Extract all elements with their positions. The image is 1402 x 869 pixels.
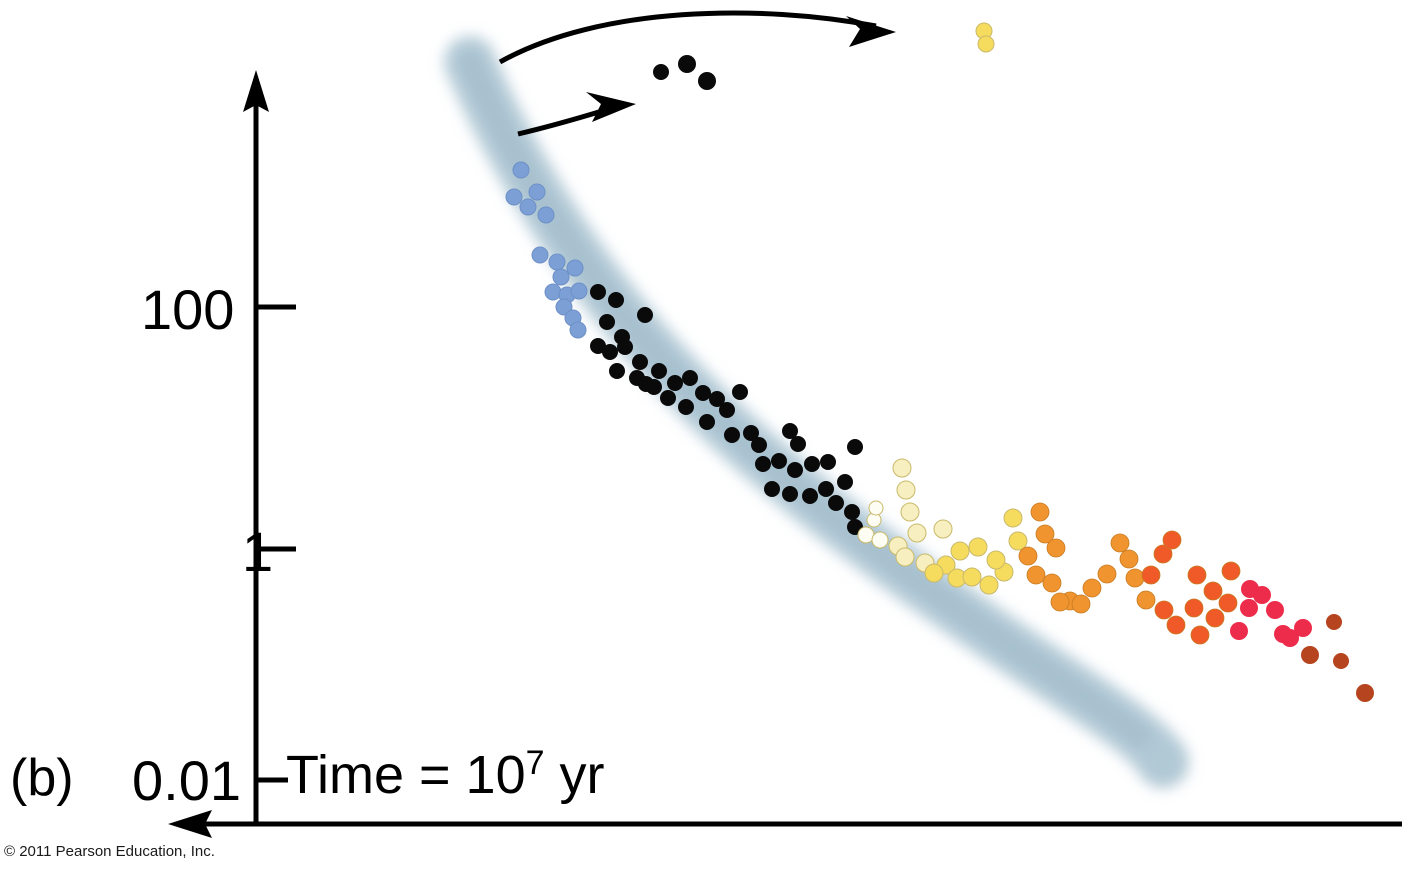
star-point — [755, 456, 771, 472]
evolution-arrow-lower — [518, 92, 636, 134]
star-point — [896, 548, 914, 566]
star-point — [1019, 547, 1037, 565]
star-point — [553, 269, 569, 285]
panel-label: (b) — [10, 748, 74, 808]
star-point — [1240, 599, 1258, 617]
star-point — [1027, 566, 1045, 584]
star-point — [1126, 569, 1144, 587]
star-point — [570, 322, 586, 338]
star-point — [897, 481, 915, 499]
star-point — [1098, 565, 1116, 583]
star-point — [724, 427, 740, 443]
star-point — [637, 307, 653, 323]
star-point — [538, 207, 554, 223]
hr-diagram-figure: 100 1 0.01 (b) Time = 107 yr © 2011 Pear… — [0, 0, 1402, 869]
star-point — [609, 363, 625, 379]
star-point — [1294, 619, 1312, 637]
star-point — [719, 402, 735, 418]
star-point — [1004, 509, 1022, 527]
evolution-arrow-upper — [500, 13, 896, 62]
star-point — [608, 292, 624, 308]
star-point — [599, 314, 615, 330]
star-point — [980, 576, 998, 594]
star-point — [506, 189, 522, 205]
star-point — [1219, 594, 1237, 612]
star-point — [782, 486, 798, 502]
star-point — [1253, 586, 1271, 604]
star-point — [963, 568, 981, 586]
star-point — [651, 363, 667, 379]
star-point — [732, 384, 748, 400]
star-point — [969, 538, 987, 556]
star-point — [872, 532, 888, 548]
star-point — [529, 184, 545, 200]
time-annotation: Time = 107 yr — [286, 744, 605, 806]
star-point — [678, 399, 694, 415]
y-axis — [243, 70, 269, 824]
star-point — [951, 542, 969, 560]
star-point — [1120, 550, 1138, 568]
star-point — [987, 551, 1005, 569]
star-point — [1009, 532, 1027, 550]
star-point — [653, 64, 669, 80]
star-point — [571, 283, 587, 299]
star-point — [698, 72, 716, 90]
star-point — [1204, 582, 1222, 600]
star-point — [787, 462, 803, 478]
star-point — [532, 247, 548, 263]
star-point — [764, 481, 780, 497]
star-point — [1163, 531, 1181, 549]
star-point — [1051, 593, 1069, 611]
star-point — [1031, 503, 1049, 521]
time-exponent: 7 — [526, 744, 545, 782]
star-point — [828, 495, 844, 511]
star-point — [771, 453, 787, 469]
star-point — [893, 459, 911, 477]
star-point — [844, 504, 860, 520]
star-point — [790, 436, 806, 452]
star-point — [1356, 684, 1374, 702]
star-point — [660, 390, 676, 406]
star-point — [901, 503, 919, 521]
star-point — [632, 354, 648, 370]
star-point — [1047, 539, 1065, 557]
star-point — [1083, 579, 1101, 597]
star-point — [520, 199, 536, 215]
star-point — [513, 162, 529, 178]
star-point — [1206, 609, 1224, 627]
star-point — [1301, 646, 1319, 664]
star-point — [1142, 566, 1160, 584]
star-point — [1222, 562, 1240, 580]
star-point — [1137, 591, 1155, 609]
star-point — [1230, 622, 1248, 640]
star-point — [1191, 626, 1209, 644]
star-point — [978, 36, 994, 52]
y-tick-label-0-01: 0.01 — [132, 748, 241, 813]
star-point — [1043, 574, 1061, 592]
star-point — [590, 284, 606, 300]
star-point — [567, 260, 583, 276]
star-point — [617, 339, 633, 355]
x-axis — [168, 810, 1402, 838]
time-suffix: yr — [545, 745, 605, 805]
y-tick-label-100: 100 — [141, 277, 234, 342]
star-point — [869, 501, 883, 515]
star-point — [699, 414, 715, 430]
star-point — [1072, 595, 1090, 613]
star-point — [549, 254, 565, 270]
star-point — [602, 344, 618, 360]
star-point — [1266, 601, 1284, 619]
y-tick-label-1: 1 — [242, 519, 273, 584]
star-point — [934, 520, 952, 538]
star-point — [682, 370, 698, 386]
star-point — [751, 437, 767, 453]
star-point — [837, 474, 853, 490]
star-point — [1188, 566, 1206, 584]
star-point — [1326, 614, 1342, 630]
star-point — [695, 385, 711, 401]
star-point — [925, 564, 943, 582]
star-point — [1333, 653, 1349, 669]
star-point — [667, 375, 683, 391]
star-point — [804, 456, 820, 472]
star-point — [1155, 601, 1173, 619]
star-point — [1111, 534, 1129, 552]
star-point — [802, 488, 818, 504]
star-point — [1185, 599, 1203, 617]
star-point — [818, 481, 834, 497]
star-point — [1167, 616, 1185, 634]
main-sequence-band — [470, 62, 1189, 788]
star-point — [908, 524, 926, 542]
hr-diagram-canvas — [0, 0, 1402, 869]
star-point — [820, 454, 836, 470]
star-point — [646, 379, 662, 395]
star-point — [678, 55, 696, 73]
time-prefix: Time = 10 — [286, 745, 526, 805]
star-point — [847, 439, 863, 455]
star-point — [545, 284, 561, 300]
copyright-notice: © 2011 Pearson Education, Inc. — [4, 843, 215, 860]
